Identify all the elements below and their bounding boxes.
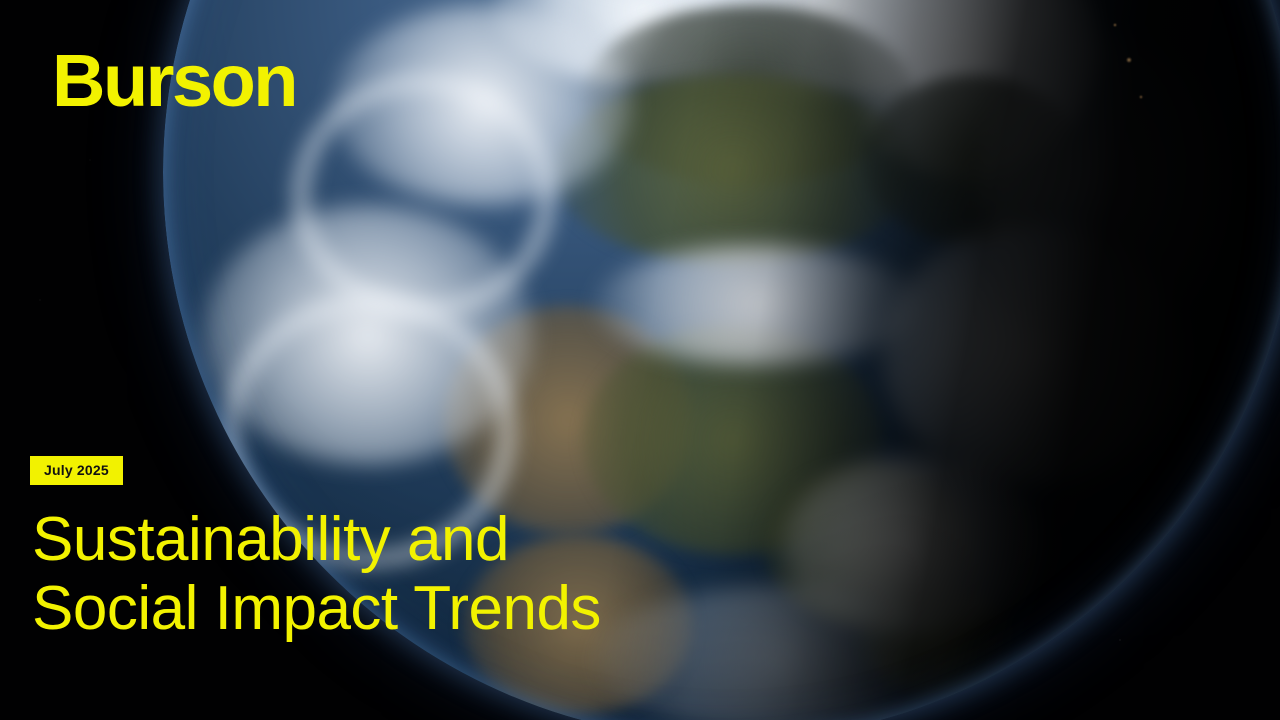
title-slide: Burson July 2025 Sustainability and Soci…	[0, 0, 1280, 720]
page-title-line-2: Social Impact Trends	[32, 574, 601, 643]
burson-logo: Burson	[52, 44, 296, 118]
date-badge: July 2025	[30, 456, 123, 485]
page-title: Sustainability and Social Impact Trends	[32, 505, 601, 644]
page-title-line-1: Sustainability and	[32, 505, 601, 574]
